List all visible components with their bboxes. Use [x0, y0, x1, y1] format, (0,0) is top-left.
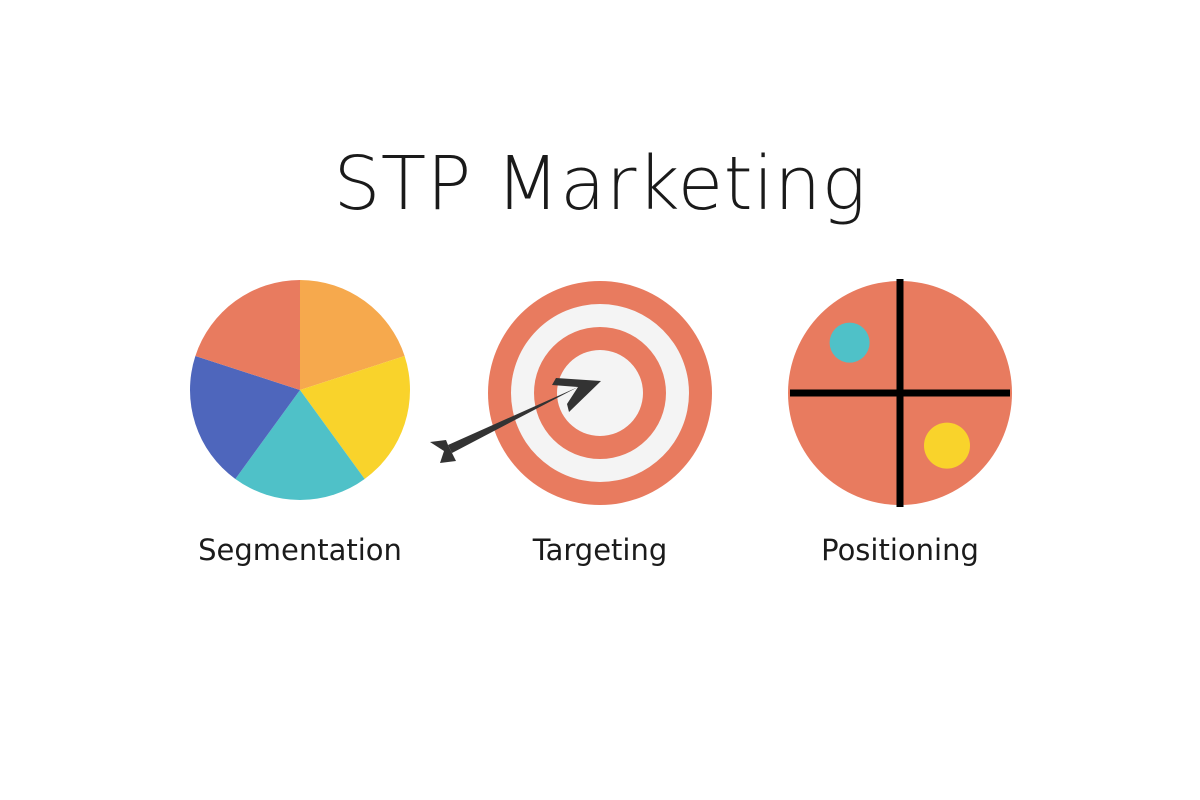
stage-label-positioning: Positioning	[770, 533, 1030, 567]
pie-chart-icon	[170, 275, 430, 515]
page-title: STP Marketing	[0, 146, 1200, 224]
stage-positioning: Positioning	[770, 275, 1030, 585]
stage-label-targeting: Targeting	[470, 533, 730, 567]
quadrant-map-icon	[770, 275, 1030, 515]
stage-targeting: Targeting	[470, 275, 730, 585]
pie-slices	[190, 280, 410, 500]
target-bullseye-icon	[470, 275, 730, 515]
arrow-tail-fletching	[430, 440, 456, 463]
stage-label-segmentation: Segmentation	[170, 533, 430, 567]
positioning-point-yellow	[924, 423, 970, 469]
target-bullseye	[557, 350, 643, 436]
infographic-canvas: STP Marketing Segmentation	[0, 0, 1200, 800]
positioning-point-teal	[830, 323, 870, 363]
stage-segmentation: Segmentation	[170, 275, 430, 585]
target-rings	[488, 281, 712, 505]
